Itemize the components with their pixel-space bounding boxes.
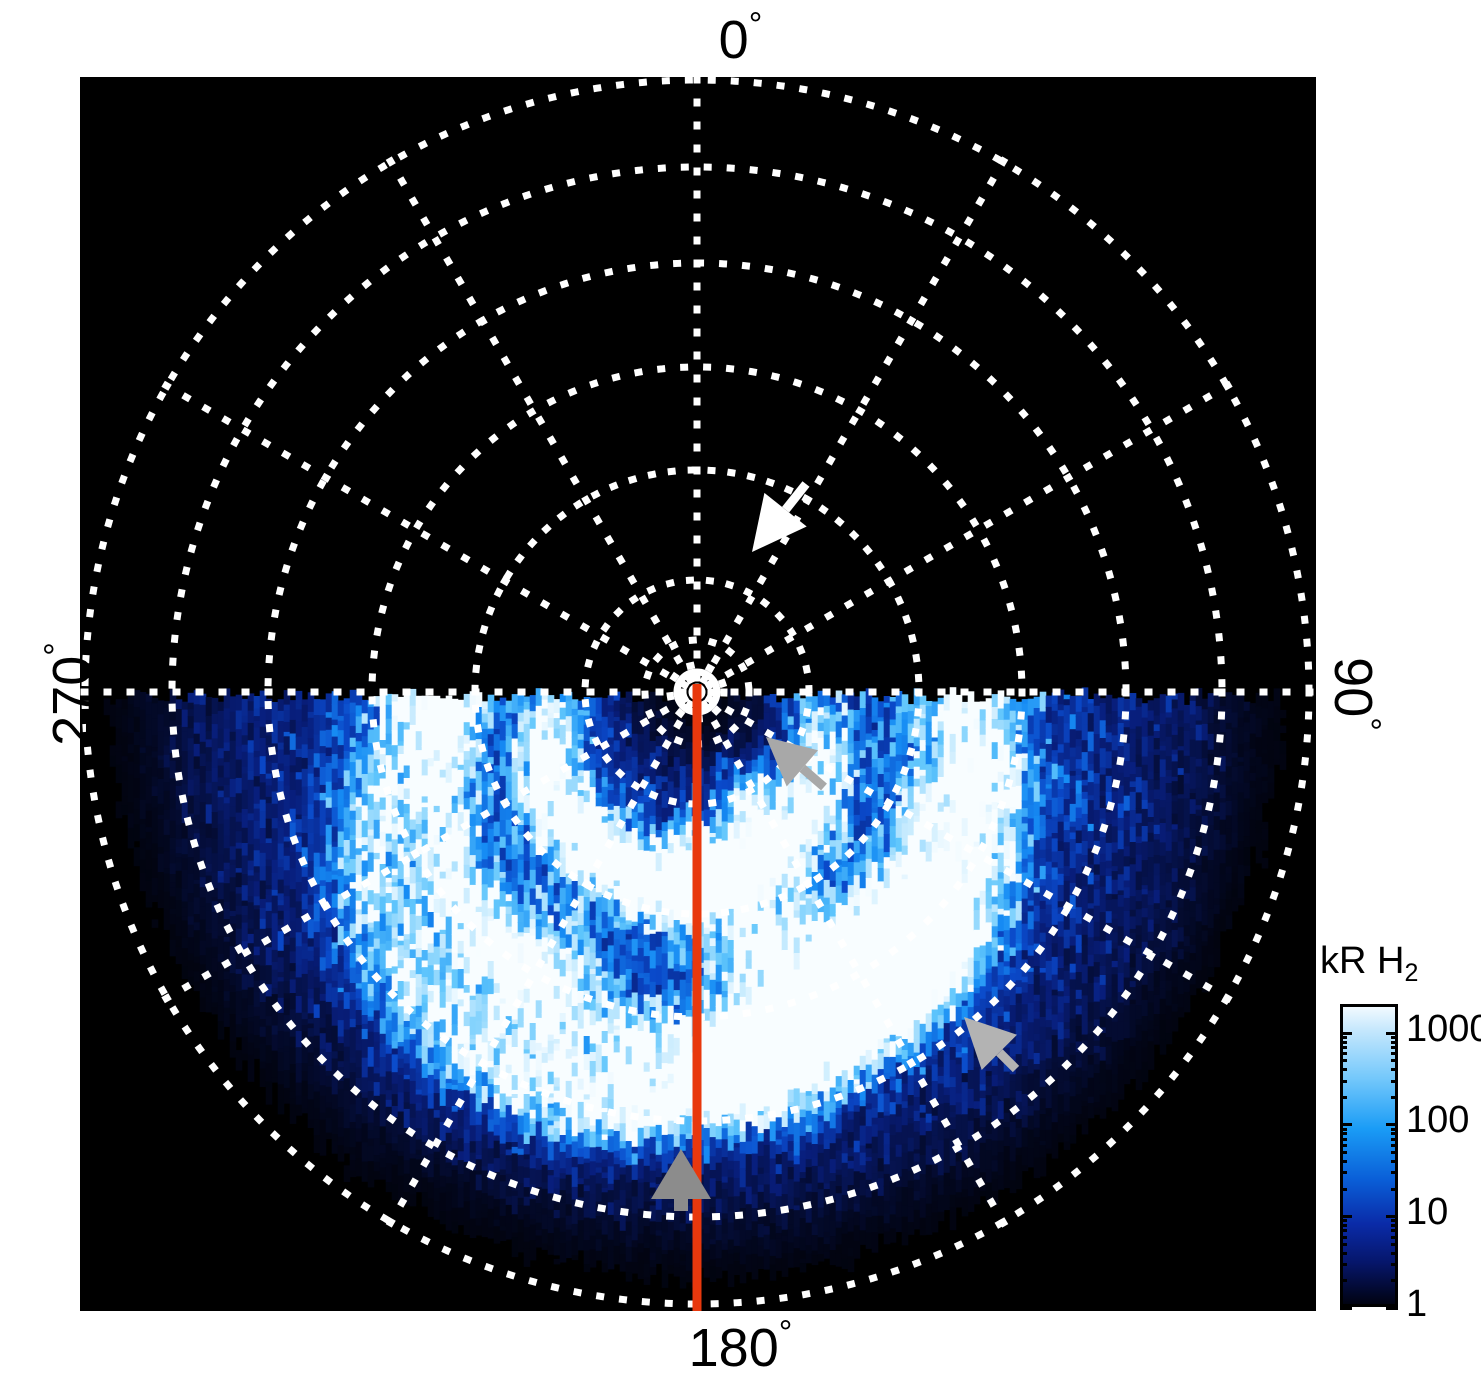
annotation-overlay <box>80 77 1316 1311</box>
axis-label-0-value: 0 <box>719 10 749 70</box>
degree-symbol-left: ° <box>38 642 76 656</box>
axis-label-180-deg: 180° <box>0 1316 1481 1375</box>
colorbar-ticks <box>1340 1004 1398 1307</box>
axis-label-270-value: 270 <box>42 656 102 746</box>
axis-label-0-deg: 0° <box>0 8 1481 67</box>
colorbar-tick-label-10: 10 <box>1406 1193 1448 1231</box>
colorbar-title-text: kR H <box>1320 940 1404 982</box>
colorbar-title-subscript: 2 <box>1404 959 1418 987</box>
colorbar-tick-label-1: 1 <box>1406 1285 1427 1323</box>
degree-symbol-bottom: ° <box>779 1314 793 1352</box>
axis-label-270-deg: 270° <box>40 594 99 794</box>
colorbar-title: kR H2 <box>1320 940 1418 988</box>
colorbar-tick-label-1000: 1000 <box>1406 1010 1481 1048</box>
colorbar: kR H2 1000 100 10 1 <box>1316 940 1481 1340</box>
axis-label-90-deg: 90° <box>1326 594 1385 794</box>
figure-container: 0° 180° 270° 90° kR H2 1000 100 10 1 <box>0 0 1481 1386</box>
degree-symbol-top: ° <box>749 6 763 44</box>
axis-label-90-value: 90 <box>1323 657 1383 717</box>
degree-symbol-right: ° <box>1349 717 1387 731</box>
axis-label-180-value: 180 <box>689 1318 779 1378</box>
polar-plot-area <box>80 77 1316 1311</box>
colorbar-tick-label-100: 100 <box>1406 1101 1469 1139</box>
